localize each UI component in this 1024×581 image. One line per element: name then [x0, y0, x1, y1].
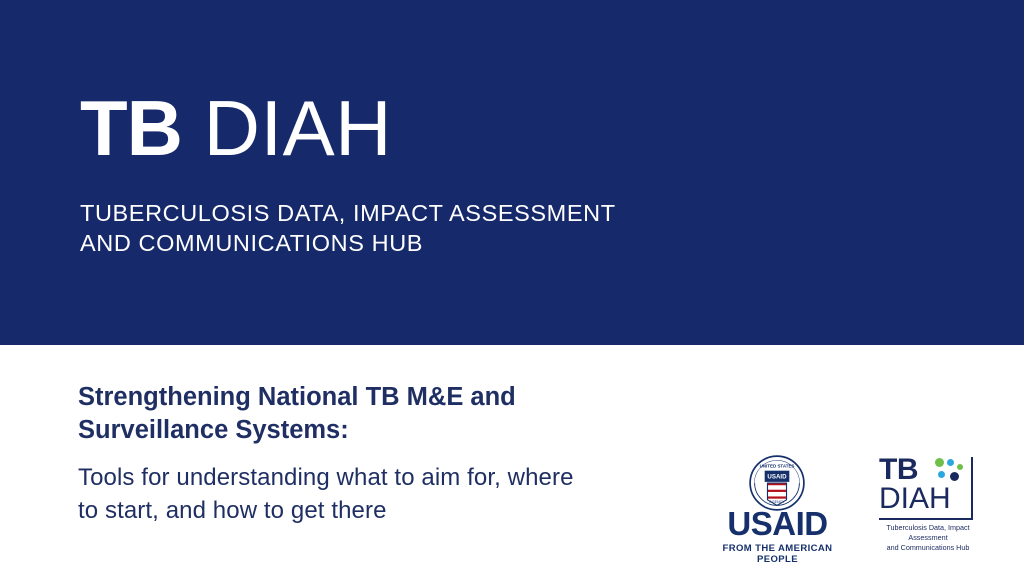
tbdiah-logo-subtitle-line2: and Communications Hub: [873, 543, 983, 553]
content-area: Strengthening National TB M&E and Survei…: [0, 345, 1024, 581]
dot-blue-2: [938, 471, 945, 478]
presentation-heading-line1: Strengthening National TB M&E and: [78, 381, 658, 414]
tbdiah-logo-vertical-rule: [971, 457, 973, 519]
presentation-subheading: Tools for understanding what to aim for,…: [78, 461, 658, 527]
presentation-heading-line2: Surveillance Systems:: [78, 414, 658, 447]
tbdiah-logo-subtitle-line1: Tuberculosis Data, Impact Assessment: [873, 523, 983, 543]
banner-content: TB DIAH TUBERCULOSIS DATA, IMPACT ASSESS…: [80, 86, 900, 258]
brand-tagline: TUBERCULOSIS DATA, IMPACT ASSESSMENT AND…: [80, 198, 900, 258]
usaid-tagline: FROM THE AMERICAN PEOPLE: [710, 543, 845, 565]
brand-tagline-line1: TUBERCULOSIS DATA, IMPACT ASSESSMENT: [80, 198, 900, 228]
svg-text:UNITED STATES: UNITED STATES: [760, 463, 795, 468]
brand-logotype-tb: TB: [80, 84, 182, 172]
usaid-wordmark: USAID: [710, 507, 845, 541]
tbdiah-logo-subtitle: Tuberculosis Data, Impact Assessment and…: [873, 523, 983, 553]
dot-green-2: [957, 464, 963, 470]
presentation-title-block: Strengthening National TB M&E and Survei…: [78, 381, 658, 527]
presentation-heading: Strengthening National TB M&E and Survei…: [78, 381, 658, 447]
brand-logotype-diah: DIAH: [204, 84, 392, 172]
header-banner: TB DIAH TUBERCULOSIS DATA, IMPACT ASSESS…: [0, 0, 1024, 345]
dot-green-1: [935, 458, 944, 467]
dot-blue-1: [947, 459, 954, 466]
svg-text:USAID: USAID: [767, 474, 787, 481]
tbdiah-logo-diah: DIAH: [879, 484, 951, 514]
presentation-subheading-line1: Tools for understanding what to aim for,…: [78, 461, 658, 494]
tbdiah-logo-rule: [879, 518, 973, 520]
title-slide: TB DIAH TUBERCULOSIS DATA, IMPACT ASSESS…: [0, 0, 1024, 581]
svg-text:AGENCY: AGENCY: [769, 500, 785, 504]
brand-logotype: TB DIAH: [80, 86, 900, 170]
dot-navy-1: [950, 472, 959, 481]
tbdiah-logo: TB DIAH Tuberculosis Data, Impact Assess…: [873, 455, 983, 560]
brand-tagline-line2: AND COMMUNICATIONS HUB: [80, 228, 900, 258]
tbdiah-logo-tb: TB: [879, 455, 918, 485]
presentation-subheading-line2: to start, and how to get there: [78, 494, 658, 527]
usaid-seal-icon: UNITED STATES USAID AGENCY: [749, 455, 805, 511]
tbdiah-logo-dots: [933, 458, 967, 484]
usaid-logo: UNITED STATES USAID AGENCY USAID FROM TH…: [710, 455, 845, 560]
